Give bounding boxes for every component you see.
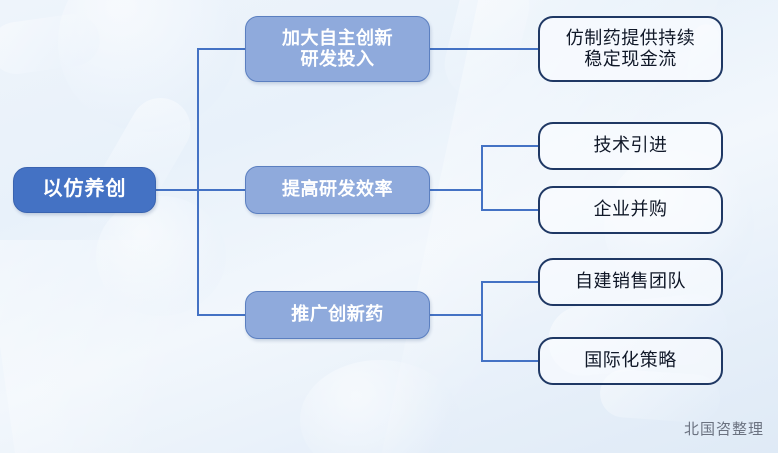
level3-node-technology-introduction[interactable]: 技术引进 bbox=[538, 122, 723, 170]
level3-node-label: 技术引进 bbox=[594, 135, 668, 156]
connector-l3-2 bbox=[481, 145, 539, 147]
watermark-text: 北国咨整理 bbox=[684, 418, 764, 439]
level3-node-label: 企业并购 bbox=[594, 199, 668, 220]
level2-node-rnd-efficiency[interactable]: 提高研发效率 bbox=[245, 166, 430, 214]
background-blob-2 bbox=[96, 196, 226, 316]
connector-l3-5 bbox=[481, 360, 539, 362]
background-sheen-2 bbox=[0, 240, 315, 453]
level2-node-label: 提高研发效率 bbox=[282, 179, 393, 200]
level3-node-internationalization-strategy[interactable]: 国际化策略 bbox=[538, 337, 723, 385]
root-node-label: 以仿养创 bbox=[43, 178, 127, 202]
connector-l3-3 bbox=[481, 209, 539, 211]
connector-l2-2-spine bbox=[481, 145, 483, 210]
connector-branch-3 bbox=[197, 314, 246, 316]
level3-node-mergers-acquisitions[interactable]: 企业并购 bbox=[538, 186, 723, 234]
level2-node-rnd-investment[interactable]: 加大自主创新 研发投入 bbox=[245, 16, 430, 82]
level2-node-label: 加大自主创新 研发投入 bbox=[282, 28, 393, 70]
diagram-canvas: 以仿养创 加大自主创新 研发投入 提高研发效率 推广创新药 仿制药提供持续 稳定… bbox=[0, 0, 778, 453]
background-pill-3 bbox=[437, 0, 536, 107]
connector-branch-2 bbox=[197, 189, 246, 191]
connector-l2-3-stub bbox=[430, 314, 482, 316]
connector-l2-2-stub bbox=[430, 189, 482, 191]
level2-node-promote-innovative-drugs[interactable]: 推广创新药 bbox=[245, 291, 430, 339]
level2-node-label: 推广创新药 bbox=[291, 304, 384, 325]
level3-node-label: 仿制药提供持续 稳定现金流 bbox=[566, 28, 696, 70]
connector-l2-3-spine bbox=[481, 281, 483, 360]
background-blob-1 bbox=[58, 0, 238, 132]
background-blob-4 bbox=[300, 360, 460, 453]
level3-node-own-sales-team[interactable]: 自建销售团队 bbox=[538, 258, 723, 306]
level3-node-label: 自建销售团队 bbox=[575, 271, 686, 292]
connector-l2-1-to-l3-1 bbox=[430, 48, 539, 50]
connector-root-stub bbox=[156, 189, 198, 191]
connector-l3-4 bbox=[481, 281, 539, 283]
root-node-yifangyangchuang[interactable]: 以仿养创 bbox=[13, 167, 156, 213]
level3-node-generic-cashflow[interactable]: 仿制药提供持续 稳定现金流 bbox=[538, 16, 723, 82]
connector-branch-1 bbox=[197, 48, 246, 50]
level3-node-label: 国际化策略 bbox=[584, 350, 677, 371]
connector-main-spine bbox=[197, 48, 199, 316]
background-pill-1 bbox=[0, 11, 103, 78]
